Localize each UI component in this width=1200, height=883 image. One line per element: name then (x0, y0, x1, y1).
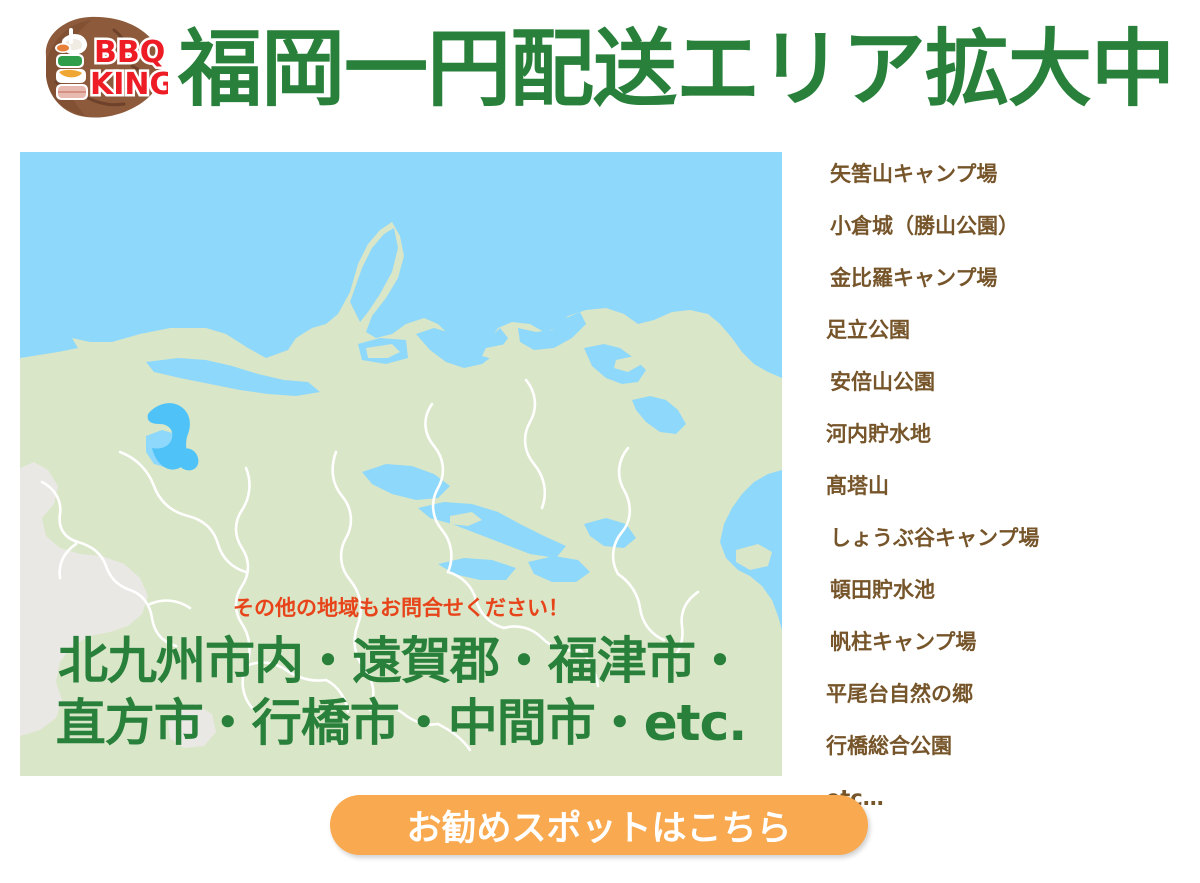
list-item: 髙塔山 (820, 460, 1180, 512)
list-item: 金比羅キャンプ場 (820, 252, 1180, 304)
list-item: 帆柱キャンプ場 (820, 616, 1180, 668)
list-item: 頓田貯水池 (820, 564, 1180, 616)
list-item: 河内貯水地 (820, 408, 1180, 460)
map-caption-note: その他の地域もお問合せください！ (20, 592, 782, 622)
list-item: 平尾台自然の郷 (820, 668, 1180, 720)
bbq-king-logo: BBQ KING (28, 12, 168, 124)
recommended-spots-button[interactable]: お勧めスポットはこちら (330, 795, 868, 855)
recommended-spot-list: 矢筈山キャンプ場 小倉城（勝山公園） 金比羅キャンプ場 足立公園 安倍山公園 河… (820, 148, 1180, 824)
map-caption-areas: 北九州市内・遠賀郡・福津市・ 直方市・行橋市・中間市・etc. (20, 630, 782, 754)
list-item: 足立公園 (820, 304, 1180, 356)
list-item: 行橋総合公園 (820, 720, 1180, 772)
recommended-spots-button-label: お勧めスポットはこちら (406, 800, 791, 851)
list-item: しょうぶ谷キャンプ場 (820, 512, 1180, 564)
list-item: etc… (820, 772, 1180, 824)
list-item: 安倍山公園 (820, 356, 1180, 408)
page-title: 福岡一円配送エリア拡大中 (178, 14, 1178, 124)
map-caption-areas-line1: 北九州市内・遠賀郡・福津市・ (20, 630, 782, 692)
logo-line2: KING (90, 67, 168, 102)
list-item: 矢筈山キャンプ場 (820, 148, 1180, 200)
list-item: 小倉城（勝山公園） (820, 200, 1180, 252)
page-header: BBQ KING 福岡一円配送エリア拡大中 (0, 0, 1200, 140)
map-caption-areas-line2: 直方市・行橋市・中間市・etc. (20, 692, 782, 754)
logo-line1: BBQ (94, 35, 165, 70)
